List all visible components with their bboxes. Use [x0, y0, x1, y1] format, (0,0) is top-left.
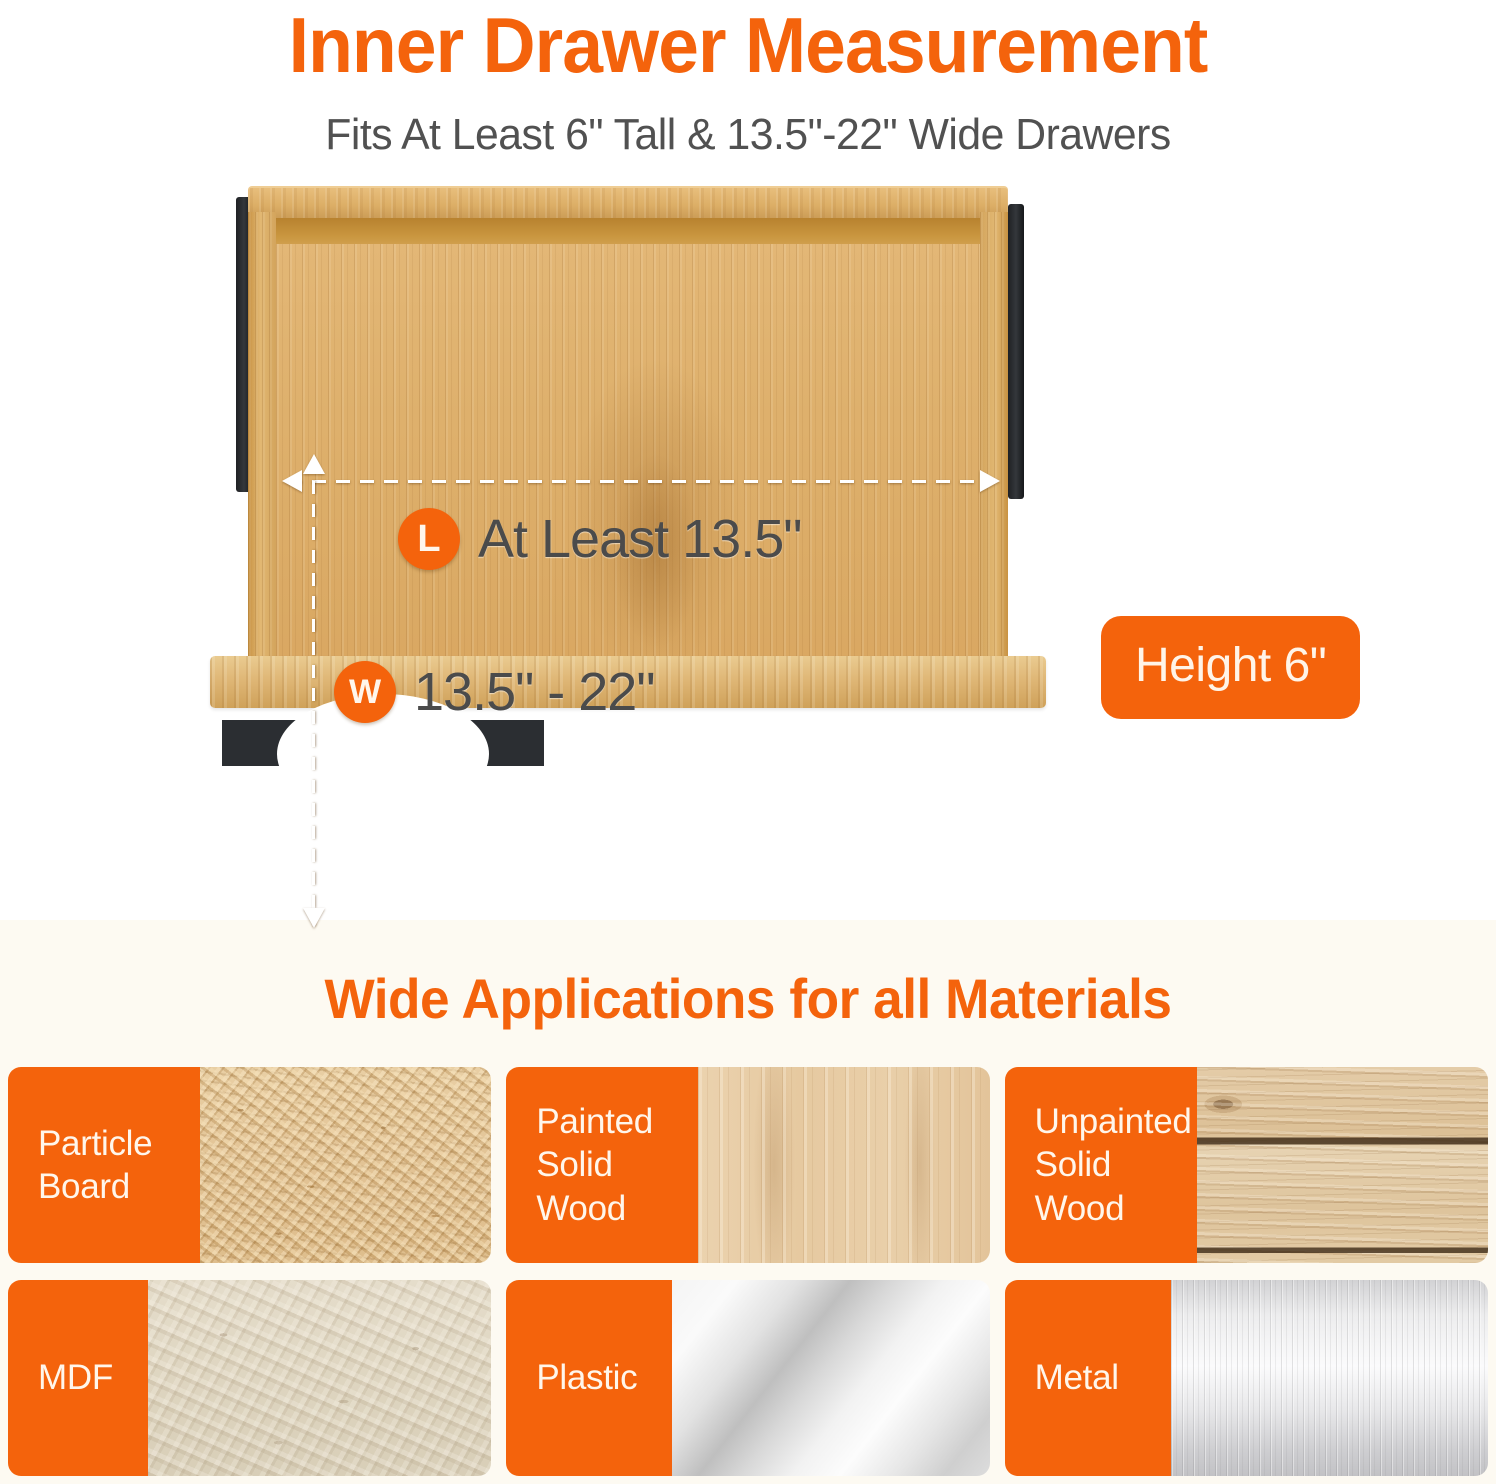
length-measurement-label: At Least 13.5": [478, 508, 801, 570]
material-label: MDF: [8, 1280, 148, 1476]
drawer-divider-block: [222, 720, 544, 766]
material-label: Metal: [1005, 1280, 1171, 1476]
drawer-diagram: L At Least 13.5" W 13.5" - 22" Height 6": [0, 172, 1496, 872]
width-badge-icon: W: [334, 661, 396, 723]
material-tile-mdf: MDF: [8, 1280, 491, 1476]
particle-board-swatch: [200, 1067, 491, 1263]
unpainted-wood-swatch: [1197, 1067, 1488, 1263]
length-measurement: L At Least 13.5": [398, 508, 801, 570]
mdf-swatch: [148, 1280, 491, 1476]
metal-swatch: [1171, 1280, 1488, 1476]
material-tile-particle-board: Particle Board: [8, 1067, 491, 1263]
drawer-bracket-right-icon: [1008, 204, 1024, 499]
painted-wood-swatch: [698, 1067, 989, 1263]
width-dimension-line: [312, 458, 315, 926]
arrow-down-icon: [303, 908, 325, 928]
materials-title: Wide Applications for all Materials: [41, 920, 1455, 1031]
material-tile-metal: Metal: [1005, 1280, 1488, 1476]
length-dimension-line: [288, 480, 988, 483]
material-label: Plastic: [506, 1280, 672, 1476]
drawer-left-wall: [248, 212, 276, 684]
drawer-illustration: [248, 186, 1008, 706]
material-label: Particle Board: [8, 1067, 200, 1263]
drawer-right-wall: [980, 212, 1008, 684]
material-tile-painted-solid-wood: Painted Solid Wood: [506, 1067, 989, 1263]
arrow-right-icon: [980, 470, 1000, 492]
material-label: Unpainted Solid Wood: [1005, 1067, 1197, 1263]
height-badge: Height 6": [1101, 616, 1360, 719]
plastic-swatch: [672, 1280, 989, 1476]
material-label: Painted Solid Wood: [506, 1067, 698, 1263]
arrow-up-icon: [303, 454, 325, 474]
page-title: Inner Drawer Measurement: [45, 6, 1451, 84]
drawer-interior-panel: [276, 244, 980, 684]
length-badge-icon: L: [398, 508, 460, 570]
materials-section: Wide Applications for all Materials Part…: [0, 920, 1496, 1484]
width-measurement-label: 13.5" - 22": [414, 661, 655, 723]
drawer-top-rim: [248, 186, 1008, 220]
material-tile-plastic: Plastic: [506, 1280, 989, 1476]
material-tile-unpainted-solid-wood: Unpainted Solid Wood: [1005, 1067, 1488, 1263]
header: Inner Drawer Measurement Fits At Least 6…: [0, 0, 1496, 160]
materials-grid: Particle Board Painted Solid Wood Unpain…: [4, 1067, 1492, 1476]
width-measurement: W 13.5" - 22": [334, 661, 655, 723]
page-subtitle: Fits At Least 6" Tall & 13.5"-22" Wide D…: [22, 110, 1473, 160]
arrow-left-icon: [282, 470, 302, 492]
